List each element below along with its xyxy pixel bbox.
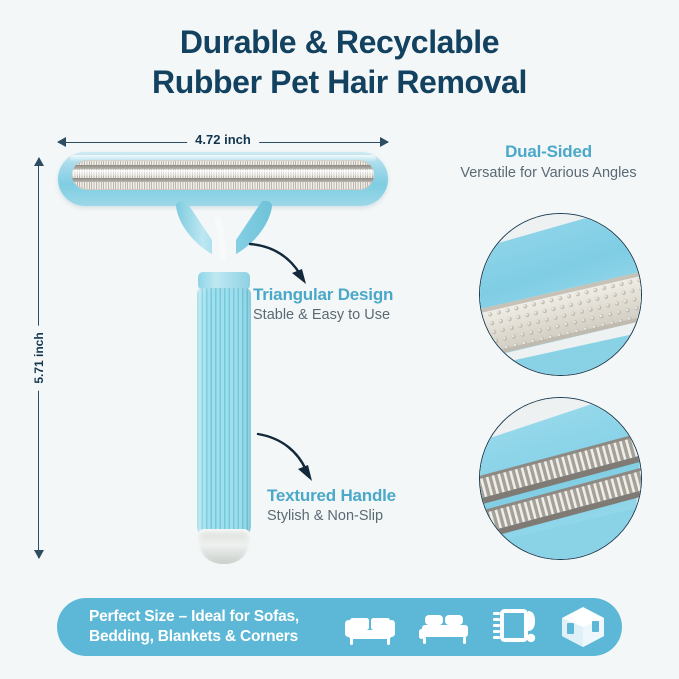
height-dimension-label: 5.71 inch — [32, 325, 46, 390]
callout-textured-handle: Textured Handle Stylish & Non-Slip — [267, 486, 396, 524]
title-line-2: Rubber Pet Hair Removal — [0, 62, 679, 102]
callout-title: Textured Handle — [267, 486, 396, 506]
callout-subtitle: Stylish & Non-Slip — [267, 508, 396, 524]
arrow-down-icon — [34, 550, 44, 559]
banner-text-line-2: Bedding, Blankets & Corners — [89, 627, 339, 647]
page-title: Durable & Recyclable Rubber Pet Hair Rem… — [0, 22, 679, 102]
ribbed-handle — [197, 288, 251, 540]
room-corner-icon — [561, 606, 605, 648]
arrow-right-icon — [380, 137, 389, 147]
callout-triangular-design: Triangular Design Stable & Easy to Use — [253, 285, 393, 323]
rug-blanket-icon — [493, 607, 539, 647]
banner-icon-group — [345, 606, 605, 648]
bottom-banner: Perfect Size – Ideal for Sofas, Bedding,… — [57, 598, 622, 656]
callout-subtitle: Stable & Easy to Use — [253, 307, 393, 323]
bed-icon — [419, 607, 471, 647]
banner-text-line-1: Perfect Size – Ideal for Sofas, — [89, 607, 339, 627]
right-panel-title: Dual-Sided — [418, 142, 679, 162]
comb-strip — [72, 160, 374, 190]
height-dimension: 5.71 inch — [31, 158, 47, 558]
right-panel-heading: Dual-Sided Versatile for Various Angles — [418, 142, 679, 181]
handle-end-cap — [198, 529, 250, 564]
sofa-icon — [345, 607, 397, 647]
comb-gloss — [72, 170, 374, 176]
detail-photo-comb-bristle-edge — [479, 397, 642, 560]
title-line-1: Durable & Recyclable — [0, 22, 679, 62]
callout-title: Triangular Design — [253, 285, 393, 305]
right-panel-subtitle: Versatile for Various Angles — [418, 165, 679, 181]
arrow-left-icon — [57, 137, 66, 147]
width-dimension: 4.72 inch — [58, 134, 388, 150]
width-dimension-label: 4.72 inch — [187, 132, 259, 147]
arrow-up-icon — [34, 157, 44, 166]
comb-ridge-lower — [72, 178, 374, 182]
comb-ridge-upper — [72, 165, 374, 169]
detail-photo-dotted-rubber-edge — [479, 213, 642, 376]
callout-arrow-textured-handle — [256, 432, 326, 492]
banner-text: Perfect Size – Ideal for Sofas, Bedding,… — [89, 607, 339, 647]
infographic-page: Durable & Recyclable Rubber Pet Hair Rem… — [0, 0, 679, 679]
